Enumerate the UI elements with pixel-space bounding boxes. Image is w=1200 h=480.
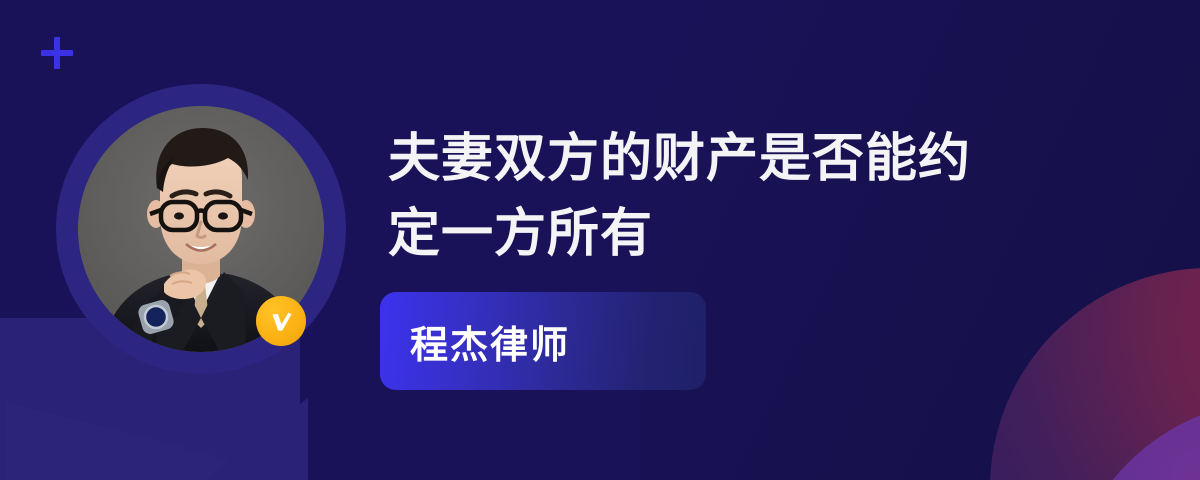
lawyer-article-banner: 夫妻双方的财产是否能约 定一方所有 程杰律师	[0, 0, 1200, 480]
verified-v-icon	[256, 296, 306, 346]
page-title: 夫妻双方的财产是否能约 定一方所有	[388, 122, 1078, 272]
author-name-label: 程杰律师	[410, 314, 570, 369]
avatar	[56, 84, 346, 374]
plus-icon	[41, 37, 73, 69]
author-name-badge[interactable]: 程杰律师	[380, 292, 706, 390]
